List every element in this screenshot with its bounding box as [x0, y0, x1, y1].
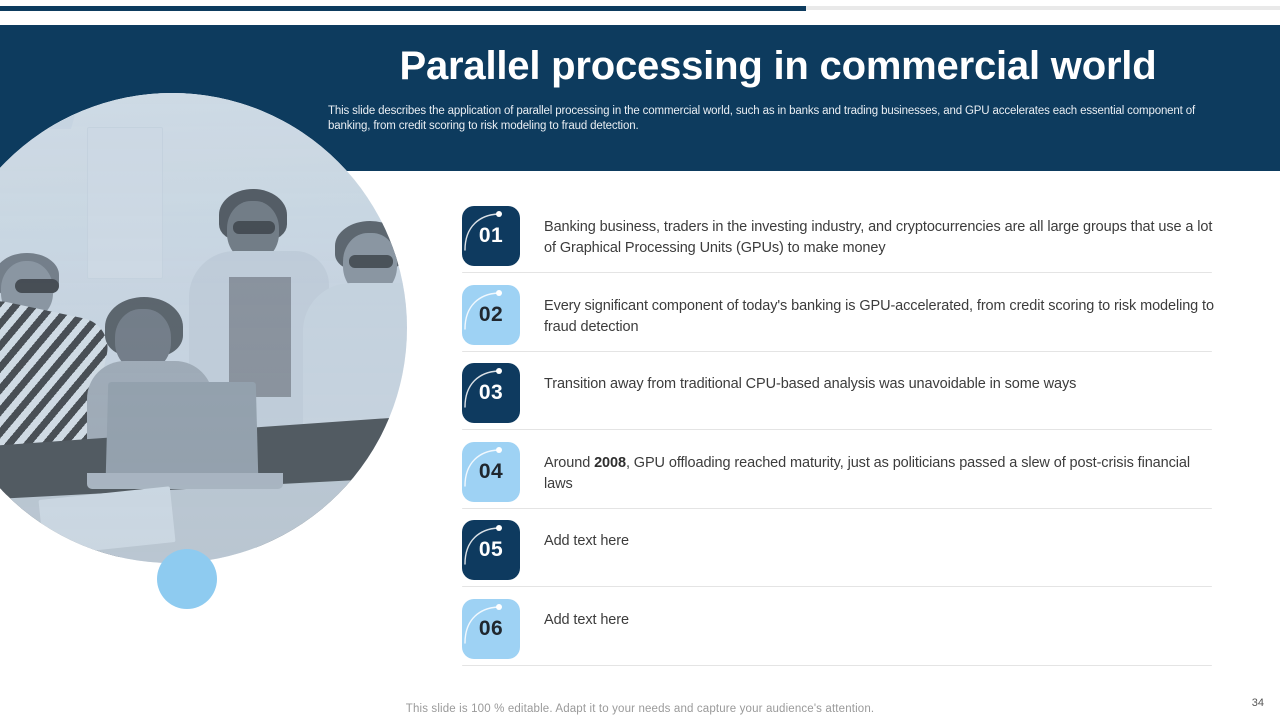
- list-item-text: Around 2008, GPU offloading reached matu…: [520, 442, 1214, 495]
- list-item-badge: 02: [462, 285, 520, 345]
- list-item[interactable]: 06Add text here: [462, 599, 1214, 659]
- list-item-text: Add text here: [520, 599, 1214, 631]
- list-item[interactable]: 04Around 2008, GPU offloading reached ma…: [462, 442, 1214, 502]
- list-divider: [462, 586, 1212, 587]
- accent-dot: [157, 549, 217, 609]
- list-item-number: 05: [462, 538, 520, 562]
- list-item[interactable]: 05Add text here: [462, 520, 1214, 580]
- list-item-text: Add text here: [520, 520, 1214, 552]
- list-item-badge: 06: [462, 599, 520, 659]
- header-content: Parallel processing in commercial world …: [328, 25, 1228, 171]
- numbered-list: 01Banking business, traders in the inves…: [462, 206, 1214, 677]
- list-item-badge: 03: [462, 363, 520, 423]
- list-item-number: 06: [462, 617, 520, 641]
- list-item-badge: 04: [462, 442, 520, 502]
- photo-desaturate-layer: [0, 93, 407, 563]
- list-item-text-tail: , GPU offloading reached maturity, just …: [544, 455, 1190, 492]
- list-divider: [462, 508, 1212, 509]
- list-item-text-lead: Around: [544, 455, 594, 471]
- list-item-text: Banking business, traders in the investi…: [520, 206, 1214, 259]
- list-item-text: Transition away from traditional CPU-bas…: [520, 363, 1214, 395]
- list-item-number: 01: [462, 224, 520, 248]
- list-item-badge: 05: [462, 520, 520, 580]
- page-title: Parallel processing in commercial world: [328, 42, 1228, 90]
- page-number: 34: [1252, 697, 1264, 709]
- list-divider: [462, 429, 1212, 430]
- list-divider: [462, 272, 1212, 273]
- list-item[interactable]: 02Every significant component of today's…: [462, 285, 1214, 345]
- footer-note: This slide is 100 % editable. Adapt it t…: [0, 703, 1280, 715]
- list-item-badge: 01: [462, 206, 520, 266]
- list-item[interactable]: 03Transition away from traditional CPU-b…: [462, 363, 1214, 423]
- list-item-text: Every significant component of today's b…: [520, 285, 1214, 338]
- list-item[interactable]: 01Banking business, traders in the inves…: [462, 206, 1214, 266]
- list-item-number: 04: [462, 460, 520, 484]
- list-divider: [462, 665, 1212, 666]
- list-item-number: 03: [462, 381, 520, 405]
- list-item-number: 02: [462, 303, 520, 327]
- team-photo: [0, 93, 407, 563]
- list-item-text-emphasis: 2008: [594, 455, 626, 471]
- list-divider: [462, 351, 1212, 352]
- progress-rail-fill: [0, 6, 806, 11]
- slide-canvas: Parallel processing in commercial world …: [0, 0, 1280, 720]
- page-subtitle: This slide describes the application of …: [328, 104, 1196, 134]
